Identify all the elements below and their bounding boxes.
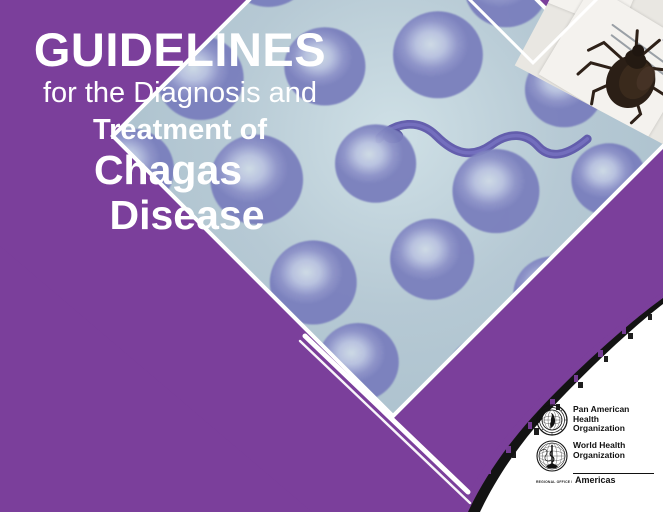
title-line-treatment-of: Treatment of [0,112,360,148]
paho-logo: Pan American Health Organization [536,404,654,436]
publication-cover: triatoma sp. [0,0,663,512]
who-regional-office-text: REGIONAL OFFICE FOR THE [536,480,572,484]
who-line-2: Organization [573,451,625,461]
cover-title-block: GUIDELINES for the Diagnosis and Treatme… [0,24,360,238]
who-emblem-icon [536,440,568,472]
who-divider-rule [573,473,654,474]
paho-globe-emblem-icon [536,404,568,436]
who-logo-text: World Health Organization [573,440,625,460]
red-blood-cell [391,219,475,300]
title-line-guidelines: GUIDELINES [0,24,360,76]
who-region-row: REGIONAL OFFICE FOR THE Americas [536,476,654,485]
organization-logos: Pan American Health Organization [536,404,654,485]
title-line-disease: Disease [14,193,360,238]
who-logo: World Health Organization REGIONAL OFFIC… [536,440,654,485]
red-blood-cell [452,149,539,233]
who-region-label: Americas [575,476,616,485]
title-line-for-the-diagnosis: for the Diagnosis and [0,76,360,110]
red-blood-cell [394,11,484,98]
title-line-chagas: Chagas [0,148,360,193]
paho-logo-text: Pan American Health Organization [573,404,629,434]
paho-line-3: Organization [573,424,629,434]
